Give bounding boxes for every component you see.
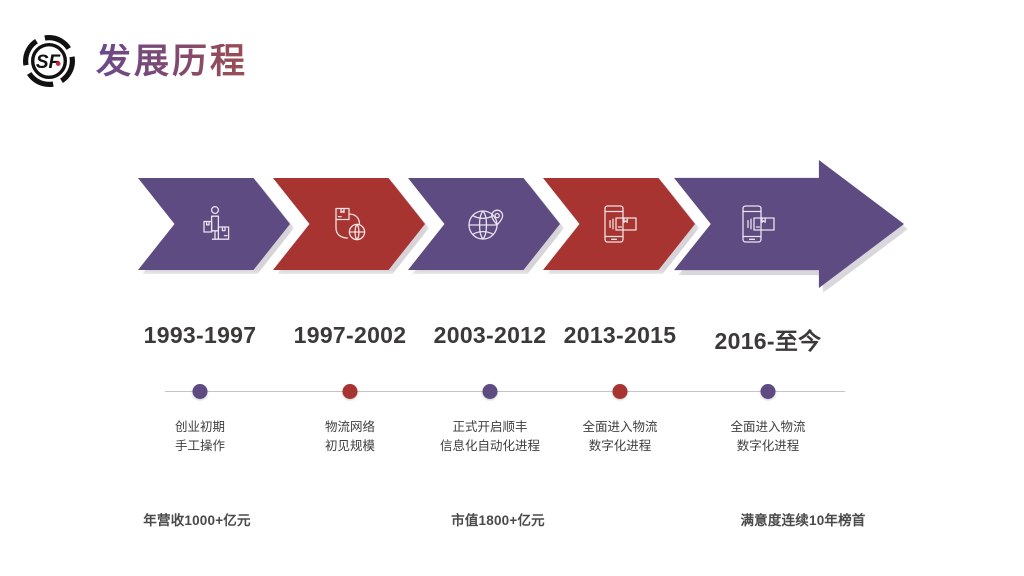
description-row: 创业初期 手工操作 物流网络 初见规模 正式开启顺丰 信息化自动化进程 全面进入… xyxy=(0,418,1024,464)
description-line-2: 数字化进程 xyxy=(582,437,657,456)
statistics-row: 年营收1000+亿元 市值1800+亿元 满意度连续10年榜首 xyxy=(0,509,1024,535)
sf-express-logo-icon: SF xyxy=(22,34,76,88)
year-label-4: 2013-2015 xyxy=(564,322,677,349)
arrow-body-5 xyxy=(674,160,904,288)
milestone-description-3: 正式开启顺丰 信息化自动化进程 xyxy=(440,418,540,456)
description-line-1: 全面进入物流 xyxy=(582,418,657,437)
timeline-dot-1[interactable] xyxy=(193,384,208,399)
statistic-satisfaction: 满意度连续10年榜首 xyxy=(740,509,865,529)
description-line-1: 创业初期 xyxy=(175,418,225,437)
milestone-description-2: 物流网络 初见规模 xyxy=(325,418,375,456)
person-with-packages-icon xyxy=(193,201,239,247)
year-label-3: 2003-2012 xyxy=(434,322,547,349)
milestone-description-4: 全面进入物流 数字化进程 xyxy=(582,418,657,456)
timeline-axis-line xyxy=(165,391,845,392)
statistic-annual-revenue: 年营收1000+亿元 xyxy=(143,509,250,529)
timeline-dot-5[interactable] xyxy=(761,384,776,399)
description-line-2: 数字化进程 xyxy=(730,437,805,456)
description-line-2: 初见规模 xyxy=(325,437,375,456)
year-label-5: 2016-至今 xyxy=(715,322,822,356)
description-line-1: 全面进入物流 xyxy=(730,418,805,437)
phone-package-icon xyxy=(736,201,782,247)
year-label-row: 1993-1997 1997-2002 2003-2012 2013-2015 … xyxy=(0,322,1024,356)
timeline-dot-4[interactable] xyxy=(613,384,628,399)
page-title: 发展历程 xyxy=(96,44,248,79)
timeline-dot-2[interactable] xyxy=(343,384,358,399)
statistic-market-value: 市值1800+亿元 xyxy=(451,509,545,529)
description-line-2: 信息化自动化进程 xyxy=(440,437,540,456)
timeline-dot-3[interactable] xyxy=(483,384,498,399)
phone-package-icon xyxy=(598,201,644,247)
package-globe-network-icon xyxy=(328,201,374,247)
timeline xyxy=(0,376,1024,406)
description-line-2: 手工操作 xyxy=(175,437,225,456)
process-arrow-band xyxy=(0,150,1024,295)
globe-location-pin-icon xyxy=(463,201,509,247)
description-line-1: 物流网络 xyxy=(325,418,375,437)
milestone-arrow-5[interactable] xyxy=(674,160,904,288)
page-header: SF 发展历程 xyxy=(22,33,248,89)
year-label-1: 1993-1997 xyxy=(144,322,257,349)
milestone-description-1: 创业初期 手工操作 xyxy=(175,418,225,456)
year-label-2: 1997-2002 xyxy=(294,322,407,349)
milestone-description-5: 全面进入物流 数字化进程 xyxy=(730,418,805,456)
description-line-1: 正式开启顺丰 xyxy=(440,418,540,437)
